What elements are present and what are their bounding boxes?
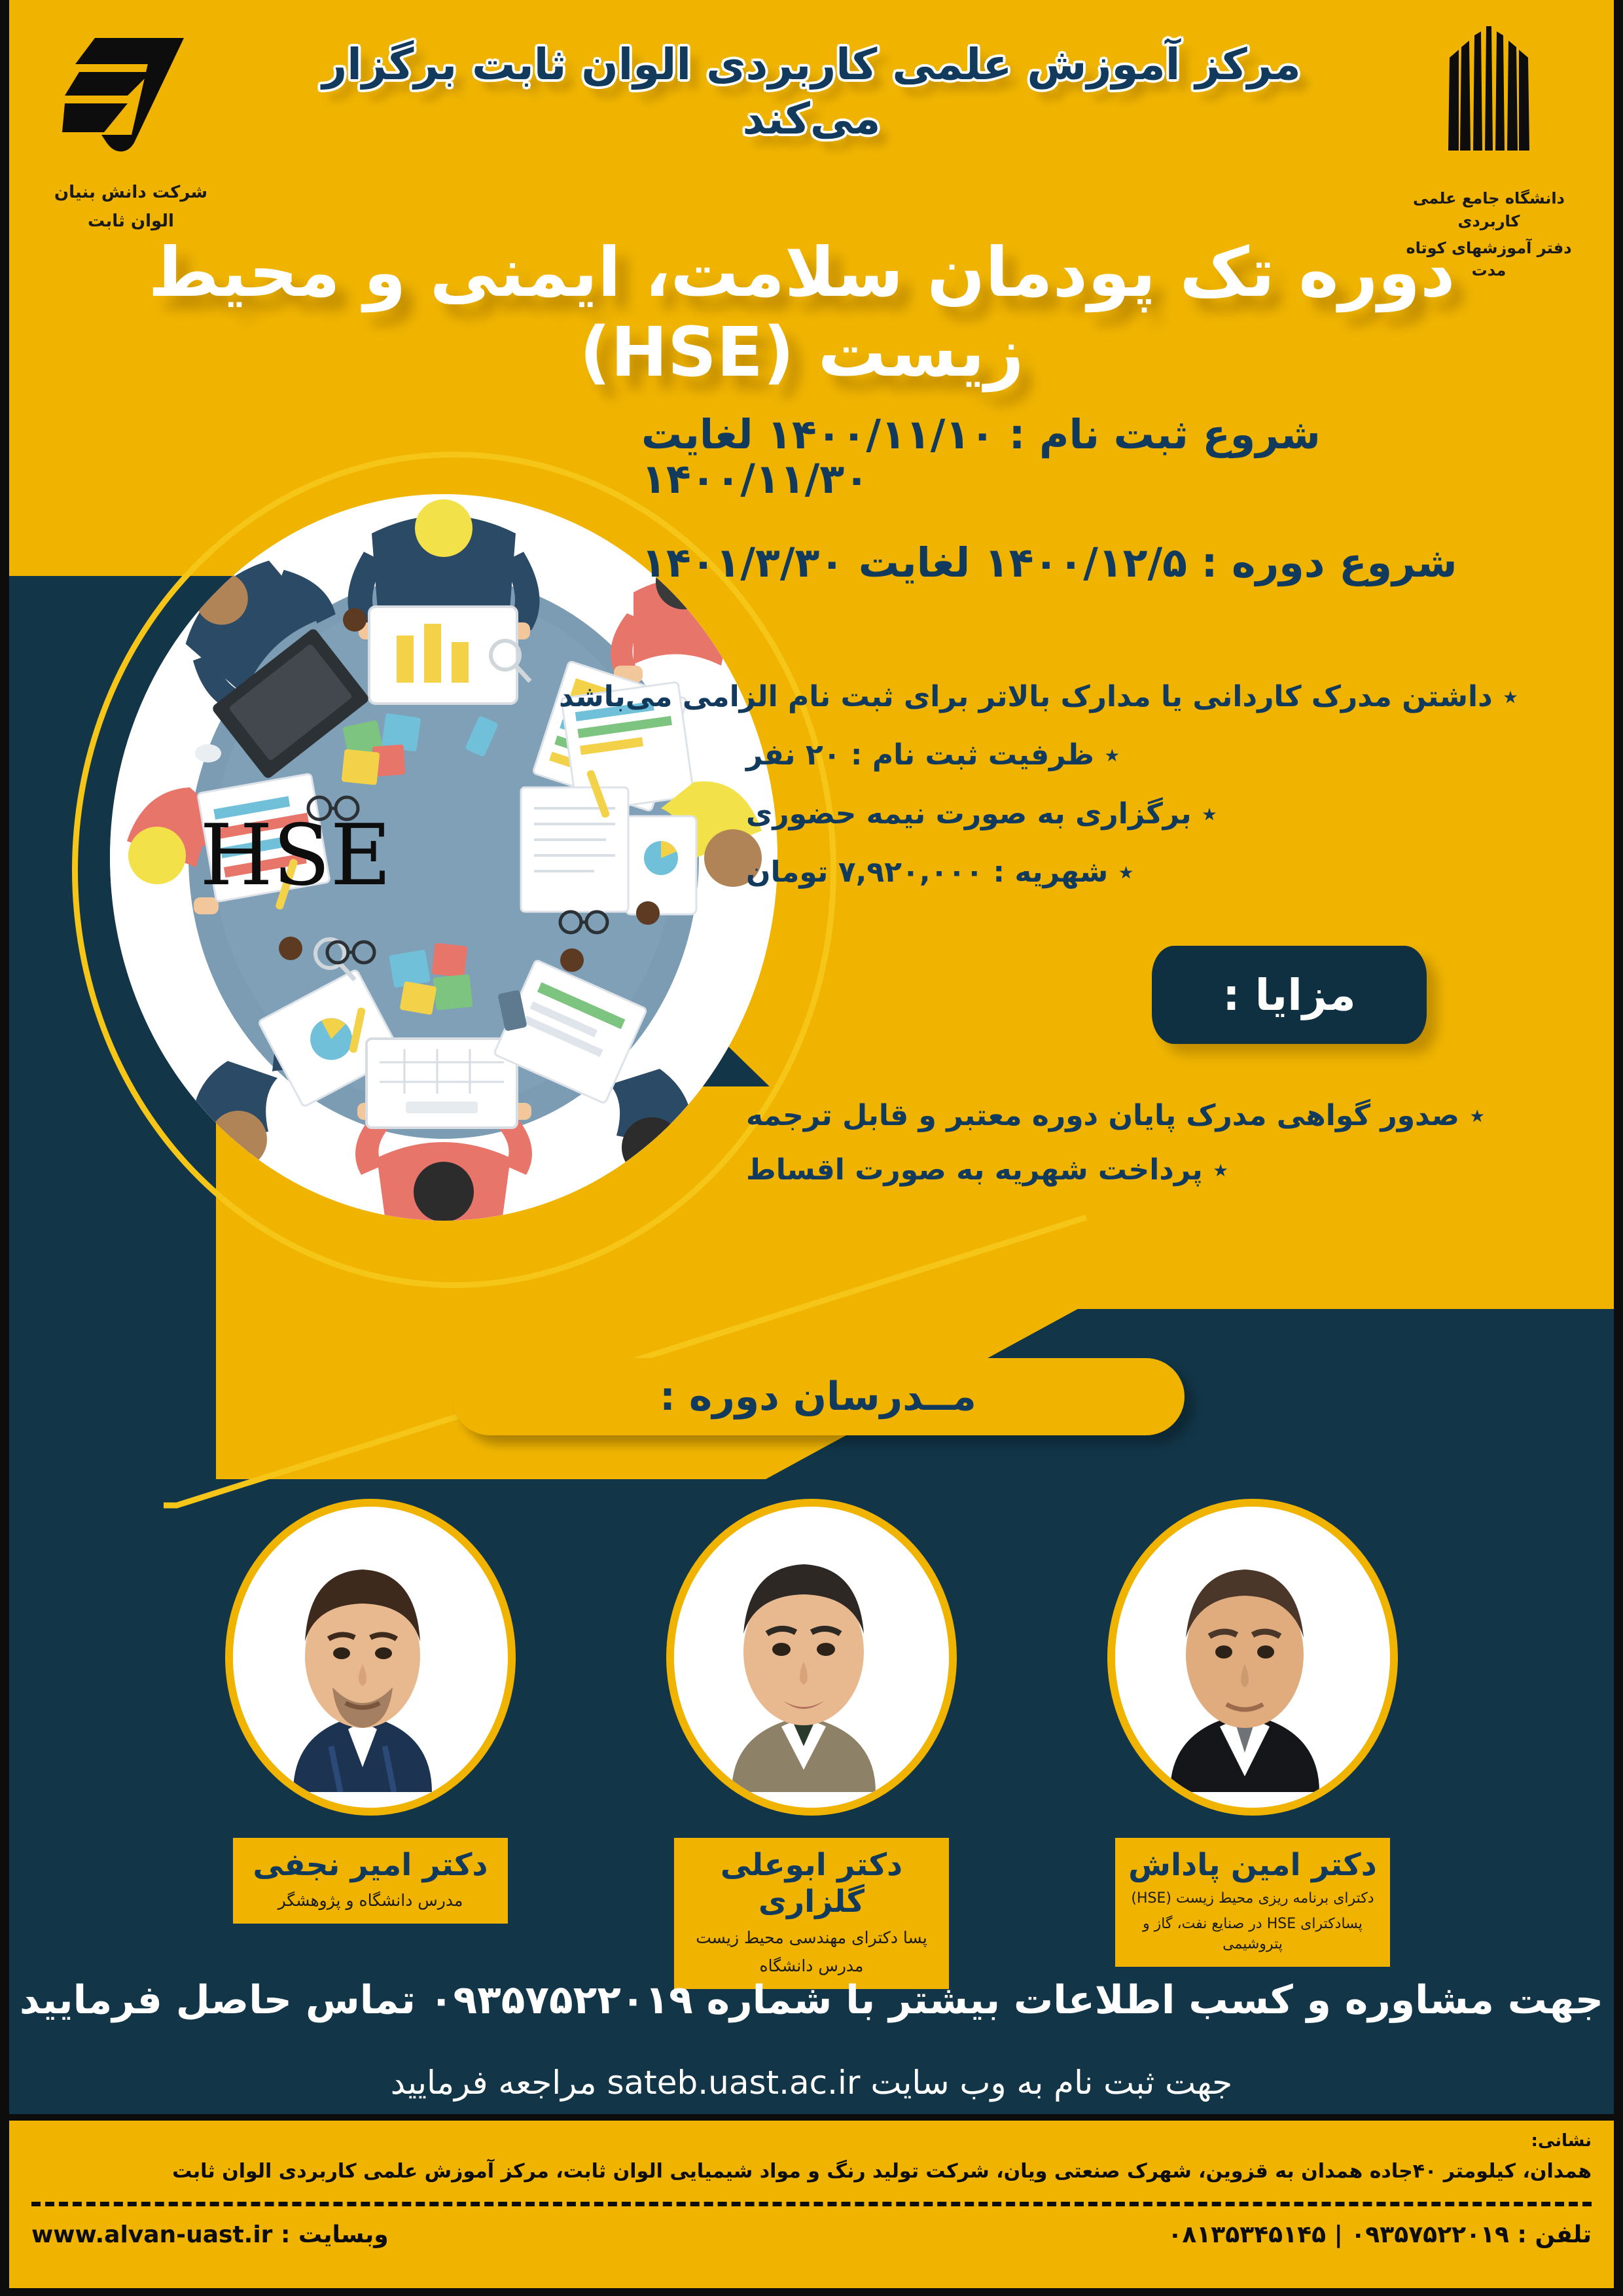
- footer-phone-1: ۰۹۳۵۷۵۲۲۰۱۹: [1351, 2221, 1509, 2248]
- contact-block: جهت مشاوره و کسب اطلاعات بیشتر با شماره …: [0, 1977, 1623, 2102]
- course-dates: شروع دوره : ۱۴۰۰/۱۲/۵ لغایت ۱۴۰۱/۳/۳۰: [641, 541, 1518, 585]
- footer-website-label: وبسایت :: [281, 2221, 389, 2248]
- instructor-nameplate: دکتر امیر نجفی مدرس دانشگاه و پژوهشگر: [233, 1838, 508, 1924]
- footer-divider: [31, 2202, 1592, 2206]
- instructor-credential: مدرس دانشگاه: [681, 1954, 942, 1977]
- uast-icon: [1423, 20, 1554, 183]
- registration-website-link[interactable]: sateb.uast.ac.ir: [607, 2064, 860, 2102]
- footer-phone-label: تلفن :: [1518, 2221, 1592, 2248]
- registration-website-line: جهت ثبت نام به وب سایت sateb.uast.ac.ir …: [0, 2063, 1623, 2102]
- requirement-item: ٭ ظرفیت ثبت نام : ۲۰ نفر: [746, 739, 1518, 771]
- footer-phone-separator: |: [1334, 2221, 1343, 2248]
- contact-main-suffix: تماس حاصل فرمایید: [20, 1977, 416, 2023]
- page-title: دوره تک پودمان سلامت، ایمنی و محیط زیست …: [144, 232, 1459, 393]
- logo-right-caption-1: دانشگاه جامع علمی کاربردی: [1400, 187, 1577, 233]
- logo-left-caption-1: شرکت دانش بنیان: [46, 181, 216, 206]
- dates-block: شروع ثبت نام : ۱۴۰۰/۱۱/۱۰ لغایت ۱۴۰۰/۱۱/…: [641, 412, 1518, 625]
- instructor-card: دکتر ابوعلی گلزاری پسا دکترای مهندسی محی…: [641, 1499, 982, 1989]
- address-label: نشانی:: [1531, 2131, 1592, 2151]
- avatar: [666, 1499, 957, 1816]
- instructor-name: دکتر امین پاداش: [1122, 1847, 1383, 1884]
- footer-website-link[interactable]: www.alvan-uast.ir: [31, 2221, 272, 2248]
- instructor-nameplate: دکتر امین پاداش دکترای برنامه ریزی محیط …: [1115, 1838, 1390, 1967]
- footer-phone-line: تلفن : ۰۹۳۵۷۵۲۲۰۱۹ | ۰۸۱۳۵۳۴۵۱۴۵: [1168, 2221, 1592, 2248]
- instructor-photo-padash: [1115, 1507, 1374, 1792]
- alvan-sabet-icon: [56, 26, 206, 177]
- instructor-photo-golzari: [674, 1507, 933, 1792]
- contact-sub-prefix: جهت ثبت نام به وب سایت: [870, 2064, 1232, 2102]
- instructor-nameplate: دکتر ابوعلی گلزاری پسا دکترای مهندسی محی…: [674, 1838, 949, 1989]
- instructor-credential: مدرس دانشگاه و پژوهشگر: [240, 1889, 501, 1912]
- avatar: [1107, 1499, 1398, 1816]
- contact-phone-line: جهت مشاوره و کسب اطلاعات بیشتر با شماره …: [0, 1977, 1623, 2024]
- footer-phone-2: ۰۸۱۳۵۳۴۵۱۴۵: [1168, 2221, 1326, 2248]
- address-text: همدان، کیلومتر ۴۰جاده همدان به قزوین، شه…: [31, 2159, 1592, 2184]
- benefit-item: ٭ پرداخت شهریه به صورت اقساط: [746, 1154, 1518, 1187]
- instructor-photo-najafi: [233, 1507, 492, 1792]
- benefits-heading-badge: مزایا :: [1152, 946, 1427, 1044]
- instructor-name: دکتر امیر نجفی: [240, 1847, 501, 1884]
- organizer-headline: مرکز آموزش علمی کاربردی الوان ثابت برگزا…: [249, 38, 1374, 146]
- hse-label: HSE: [200, 807, 391, 905]
- requirements-list: ٭ داشتن مدرک کاردانی یا مدارک بالاتر برا…: [746, 681, 1518, 914]
- benefits-heading-label: مزایا :: [1222, 970, 1355, 1020]
- contact-sub-suffix: مراجعه فرمایید: [391, 2064, 597, 2102]
- instructors-heading-label: مــدرسان دوره :: [660, 1374, 976, 1420]
- instructor-credential: دکترای برنامه ریزی محیط زیست (HSE): [1122, 1889, 1383, 1909]
- requirement-item: ٭ برگزاری به صورت نیمه حضوری: [746, 798, 1518, 830]
- instructor-credential: پسادکترای HSE در صنایع نفت، گاز و پتروشی…: [1122, 1914, 1383, 1955]
- benefit-item: ٭ صدور گواهی مدرک پایان دوره معتبر و قاب…: [746, 1100, 1518, 1133]
- requirement-item: ٭ شهریه : ۷,۹۲۰,۰۰۰ تومان: [746, 856, 1518, 888]
- requirement-item: ٭ داشتن مدرک کاردانی یا مدارک بالاتر برا…: [746, 681, 1518, 713]
- instructor-name: دکتر ابوعلی گلزاری: [681, 1847, 942, 1921]
- instructors-heading-badge: مــدرسان دوره :: [452, 1358, 1185, 1435]
- logo-left-caption-2: الوان ثابت: [46, 209, 216, 234]
- logo-alvan-sabet: شرکت دانش بنیان الوان ثابت: [46, 26, 216, 234]
- footer-website-line: وبسایت : www.alvan-uast.ir: [31, 2221, 389, 2248]
- poster-canvas: شرکت دانش بنیان الوان ثابت دانشگاه جامع …: [0, 0, 1623, 2296]
- instructors-row: دکتر امیر نجفی مدرس دانشگاه و پژوهشگر: [0, 1499, 1623, 1989]
- instructor-card: دکتر امین پاداش دکترای برنامه ریزی محیط …: [1082, 1499, 1423, 1989]
- benefits-list: ٭ صدور گواهی مدرک پایان دوره معتبر و قاب…: [746, 1100, 1518, 1208]
- avatar: [225, 1499, 516, 1816]
- instructor-credential: پسا دکترای مهندسی محیط زیست: [681, 1926, 942, 1949]
- registration-dates: شروع ثبت نام : ۱۴۰۰/۱۱/۱۰ لغایت ۱۴۰۰/۱۱/…: [641, 412, 1518, 501]
- contact-main-prefix: جهت مشاوره و کسب اطلاعات بیشتر با شماره: [707, 1977, 1603, 2023]
- instructor-card: دکتر امیر نجفی مدرس دانشگاه و پژوهشگر: [200, 1499, 541, 1989]
- contact-phone-number: ۰۹۳۵۷۵۲۲۰۱۹: [429, 1977, 693, 2023]
